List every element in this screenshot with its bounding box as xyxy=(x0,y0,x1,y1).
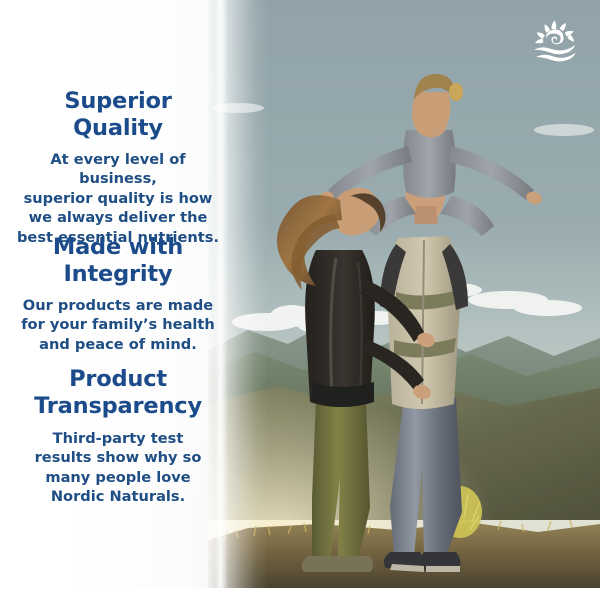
product-transparency-body: Third-party test results show why so man… xyxy=(0,429,236,507)
body-line: At every level of business, xyxy=(12,150,224,189)
heading-line: Product xyxy=(6,366,230,393)
bottom-white-strip xyxy=(0,588,600,600)
value-prop-product-transparency: Product Transparency Third-party test re… xyxy=(0,366,236,507)
body-line: Nordic Naturals. xyxy=(12,487,224,506)
heading-line: Made with xyxy=(6,234,230,261)
made-with-integrity-heading: Made with Integrity xyxy=(0,234,236,288)
value-prop-made-with-integrity: Made with Integrity Our products are mad… xyxy=(0,234,236,354)
value-prop-superior-quality: Superior Quality At every level of busin… xyxy=(0,88,236,247)
body-line: Third-party test xyxy=(12,429,224,448)
made-with-integrity-body: Our products are made for your family’s … xyxy=(0,296,236,354)
superior-quality-body: At every level of business, superior qua… xyxy=(0,150,236,247)
body-line: for your family’s health xyxy=(12,315,224,334)
superior-quality-heading: Superior Quality xyxy=(0,88,236,142)
heading-line: Quality xyxy=(6,115,230,142)
body-line: results show why so xyxy=(12,448,224,467)
family-photo xyxy=(208,0,600,588)
heading-line: Superior xyxy=(6,88,230,115)
body-line: we always deliver the xyxy=(12,208,224,227)
body-line: Our products are made xyxy=(12,296,224,315)
promo-poster: Superior Quality At every level of busin… xyxy=(0,0,600,600)
value-props-column: Superior Quality At every level of busin… xyxy=(0,0,236,600)
body-line: many people love xyxy=(12,468,224,487)
sun-wave-logo-icon xyxy=(526,18,582,64)
body-line: and peace of mind. xyxy=(12,335,224,354)
body-line: superior quality is how xyxy=(12,189,224,208)
product-transparency-heading: Product Transparency xyxy=(0,366,236,420)
heading-line: Transparency xyxy=(6,393,230,420)
heading-line: Integrity xyxy=(6,261,230,288)
